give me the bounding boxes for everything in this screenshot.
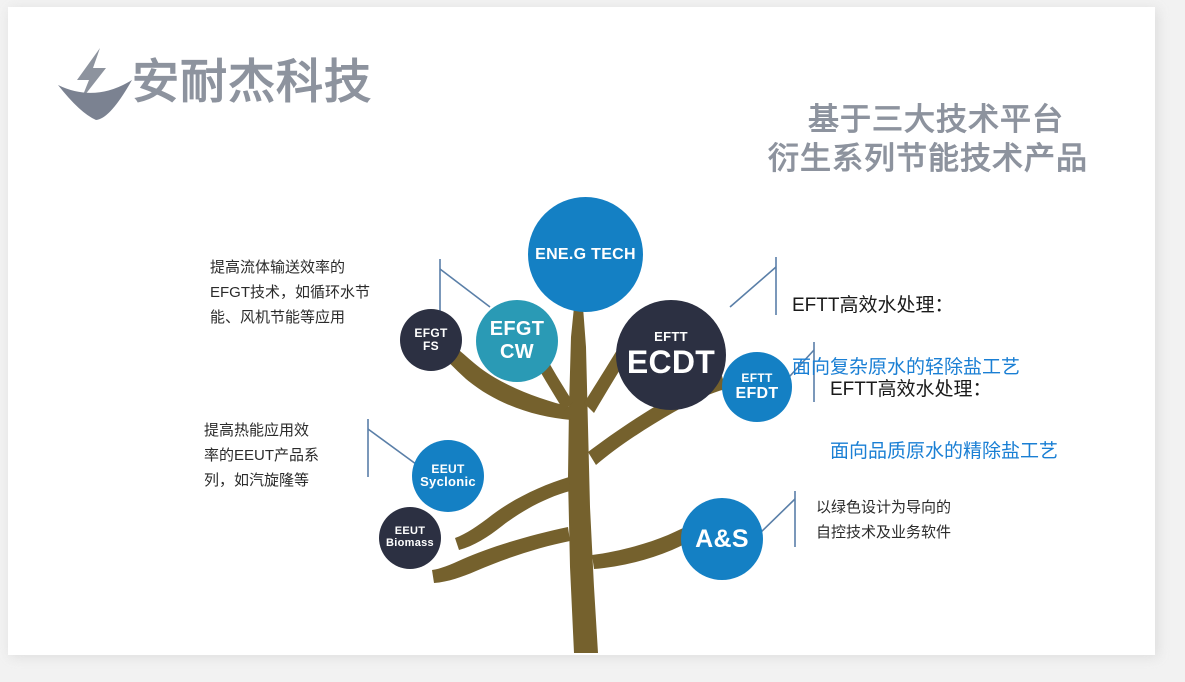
tree-node-as[interactable]: A&S xyxy=(681,498,763,580)
annotation-as: 以绿色设计为导向的 自控技术及业务软件 xyxy=(816,495,1016,545)
annotation-efgt: 提高流体输送效率的 EFGT技术，如循环水节 能、风机节能等应用 xyxy=(210,255,425,330)
annotation-eftt-quality: EFTT高效水处理： 面向品质原水的精除盐工艺 xyxy=(830,343,1155,498)
leader-line-eftt1-diagonal xyxy=(730,267,776,307)
tree-node-eeut-biomass[interactable]: EEUT Biomass xyxy=(379,507,441,569)
tree-node-efdt-label: EFDT xyxy=(736,385,779,402)
tree-node-ecdt[interactable]: EFTT ECDT xyxy=(616,300,726,410)
tree-node-efdt-sublabel: EFTT xyxy=(741,372,772,385)
tree-node-eneg-label: ENE.G TECH xyxy=(535,246,636,263)
annotation-eeut: 提高热能应用效 率的EEUT产品系 列，如汽旋隆等 xyxy=(204,418,364,493)
leader-line-efgt-diagonal xyxy=(440,269,490,307)
tree-node-as-label: A&S xyxy=(695,526,749,553)
tree-node-efgt-cw[interactable]: EFGT CW xyxy=(476,300,558,382)
tree-node-eneg[interactable]: ENE.G TECH xyxy=(528,197,643,312)
tree-node-efgt-fs-label: FS xyxy=(423,340,439,353)
leader-line-eeut-diagonal xyxy=(368,429,420,467)
annotation-eftt-quality-detail: 面向品质原水的精除盐工艺 xyxy=(830,436,1155,467)
tree-node-ecdt-label: ECDT xyxy=(627,345,715,380)
annotation-eftt-quality-title: EFTT高效水处理： xyxy=(830,374,1155,405)
leader-line-as-diagonal xyxy=(758,499,795,535)
tree-node-eeut-biomass-label: Biomass xyxy=(386,538,434,550)
tree-node-eeut-syclonic-label: Syclonic xyxy=(420,475,476,489)
tree-node-efgt-cw-sublabel: EFGT xyxy=(490,318,545,341)
tree-node-efgt-cw-label: CW xyxy=(500,341,534,364)
tree-node-efdt[interactable]: EFTT EFDT xyxy=(722,352,792,422)
slide-canvas: 安耐杰科技 基于三大技术平台 衍生系列节能技术产品 xyxy=(8,7,1155,655)
tree-node-eeut-syclonic[interactable]: EEUT Syclonic xyxy=(412,440,484,512)
tree-node-ecdt-sublabel: EFTT xyxy=(654,330,688,344)
annotation-eftt-complex-title: EFTT高效水处理： xyxy=(792,290,1152,321)
